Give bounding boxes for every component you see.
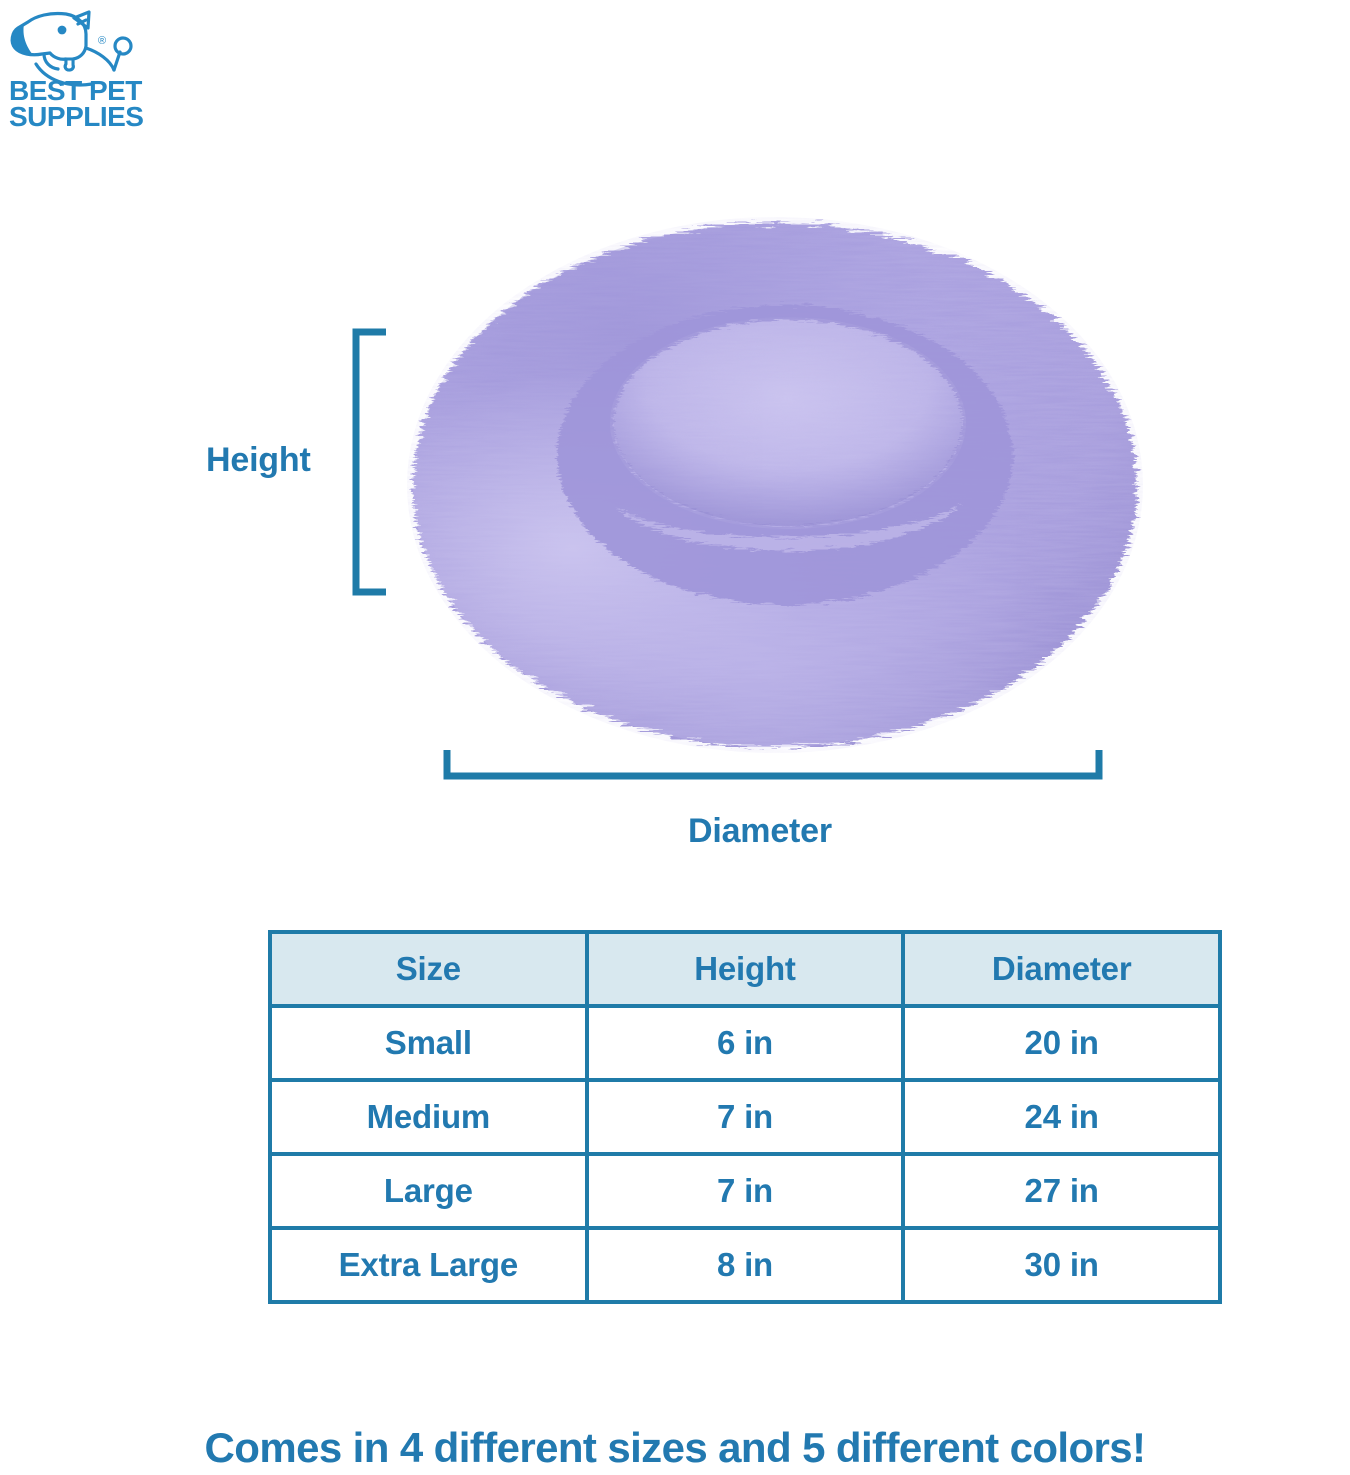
column-header-diameter: Diameter <box>903 932 1220 1006</box>
cell-size: Medium <box>270 1080 587 1154</box>
cell-height: 7 in <box>587 1154 904 1228</box>
registered-trademark-symbol: ® <box>98 35 106 47</box>
cell-diameter: 27 in <box>903 1154 1220 1228</box>
cushion-shading <box>614 320 962 526</box>
height-callout-label: Height <box>206 441 311 480</box>
product-image <box>380 155 1170 775</box>
cell-diameter: 24 in <box>903 1080 1220 1154</box>
height-bracket-icon <box>352 328 388 596</box>
table-row: Large 7 in 27 in <box>270 1154 1220 1228</box>
brand-logo: ® BEST PET SUPPLIES <box>6 4 166 134</box>
plush-pet-bed-illustration <box>380 155 1170 775</box>
table-row: Extra Large 8 in 30 in <box>270 1228 1220 1302</box>
cell-height: 8 in <box>587 1228 904 1302</box>
cell-height: 6 in <box>587 1006 904 1080</box>
cell-size: Small <box>270 1006 587 1080</box>
cell-diameter: 20 in <box>903 1006 1220 1080</box>
column-header-size: Size <box>270 932 587 1006</box>
table-row: Medium 7 in 24 in <box>270 1080 1220 1154</box>
dog-eye-icon <box>58 26 67 35</box>
size-chart: Size Height Diameter Small 6 in 20 in Me… <box>268 930 1222 1304</box>
cell-diameter: 30 in <box>903 1228 1220 1302</box>
diameter-bracket-icon <box>443 748 1103 782</box>
footer-caption: Comes in 4 different sizes and 5 differe… <box>0 1424 1350 1472</box>
diameter-callout-label: Diameter <box>688 812 832 851</box>
size-chart-table: Size Height Diameter Small 6 in 20 in Me… <box>268 930 1222 1304</box>
table-header-row: Size Height Diameter <box>270 932 1220 1006</box>
cell-height: 7 in <box>587 1080 904 1154</box>
table-row: Small 6 in 20 in <box>270 1006 1220 1080</box>
cell-size: Extra Large <box>270 1228 587 1302</box>
dog-logo-icon: ® BEST PET SUPPLIES <box>6 4 166 134</box>
column-header-height: Height <box>587 932 904 1006</box>
cell-size: Large <box>270 1154 587 1228</box>
brand-name-line2: SUPPLIES <box>9 101 143 132</box>
